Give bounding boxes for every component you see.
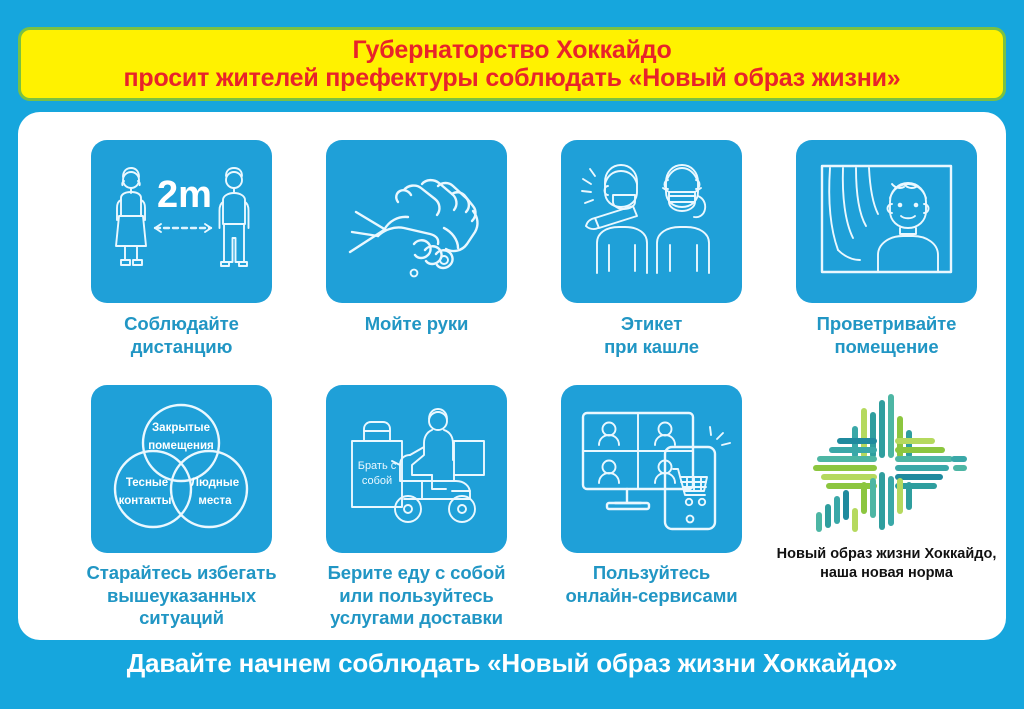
avoid-tile-box: Закрытые помещения Тесные контакты Людны…	[91, 385, 272, 553]
distance-caption-line2: дистанцию	[124, 336, 239, 359]
venn-label-right2: места	[198, 495, 232, 507]
avoid-caption: Старайтесь избегать вышеуказанных ситуац…	[87, 562, 277, 630]
takeout-caption-line3: услугами доставки	[328, 607, 506, 630]
ventilate-caption: Проветривайте помещение	[817, 313, 957, 358]
bag-label-line1: Брать с	[358, 460, 397, 472]
cough-caption-line1: Этикет	[604, 313, 699, 336]
header-title-line2: просит жителей префектуры соблюдать «Нов…	[124, 64, 901, 92]
online-caption-line1: Пользуйтесь	[565, 562, 737, 585]
ventilate-caption-line1: Проветривайте	[817, 313, 957, 336]
tile-row-2: Закрытые помещения Тесные контакты Людны…	[64, 385, 1004, 630]
tile-takeout: Брать с собой	[299, 385, 534, 630]
tile-ventilate: Проветривайте помещение	[769, 140, 1004, 358]
avoid-caption-line1: Старайтесь избегать	[87, 562, 277, 585]
ventilate-caption-line2: помещение	[817, 336, 957, 359]
pinwheel-logo-icon	[796, 389, 977, 541]
tile-avoid-three-cs: Закрытые помещения Тесные контакты Людны…	[64, 385, 299, 630]
distance-tile-box: 2m	[91, 140, 272, 303]
ventilate-tile-box	[796, 140, 977, 303]
avoid-caption-line3: ситуаций	[87, 607, 277, 630]
tile-cough: Этикет при кашле	[534, 140, 769, 358]
footer-banner: Давайте начнем соблюдать «Новый образ жи…	[0, 648, 1024, 679]
takeout-caption-line1: Берите еду с собой	[328, 562, 506, 585]
online-caption-line2: онлайн-сервисами	[565, 585, 737, 608]
cough-etiquette-icon	[561, 140, 742, 303]
venn-label-top: Закрытые	[152, 422, 210, 434]
bag-label-line2: собой	[362, 475, 392, 487]
distance-caption-line1: Соблюдайте	[124, 313, 239, 336]
venn-label-left: Тесные	[126, 477, 168, 489]
wash-hands-tile-box	[326, 140, 507, 303]
social-distance-icon: 2m	[91, 140, 272, 303]
cough-caption: Этикет при кашле	[604, 313, 699, 358]
distance-caption: Соблюдайте дистанцию	[124, 313, 239, 358]
venn-label-right: Людные	[191, 477, 239, 489]
tile-distance: 2m Соблюдайте дистанцию	[64, 140, 299, 358]
poster: Губернаторство Хоккайдо просит жителей п…	[0, 0, 1024, 709]
venn-label-top2: помещения	[148, 440, 214, 452]
takeout-tile-box: Брать с собой	[326, 385, 507, 553]
online-services-icon	[561, 385, 742, 553]
venn-label-left2: контакты	[119, 495, 172, 507]
content-card: 2m Соблюдайте дистанцию	[18, 112, 1006, 640]
takeout-caption-line2: или пользуйтесь	[328, 585, 506, 608]
online-caption: Пользуйтесь онлайн-сервисами	[565, 562, 737, 607]
three-cs-venn-icon: Закрытые помещения Тесные контакты Людны…	[91, 385, 272, 553]
tile-row-1: 2m Соблюдайте дистанцию	[64, 140, 1004, 358]
tile-wash-hands: Мойте руки	[299, 140, 534, 358]
logo-caption-line1: Новый образ жизни Хоккайдо,	[777, 545, 997, 564]
hokkaido-new-lifestyle-logo: Новый образ жизни Хоккайдо, наша новая н…	[769, 385, 1004, 630]
wash-hands-caption: Мойте руки	[365, 313, 469, 336]
washing-hands-icon	[326, 140, 507, 303]
logo-caption: Новый образ жизни Хоккайдо, наша новая н…	[777, 545, 997, 583]
ventilation-window-icon	[796, 140, 977, 303]
distance-value: 2m	[157, 174, 212, 216]
takeout-delivery-icon: Брать с собой	[326, 385, 507, 553]
avoid-caption-line2: вышеуказанных	[87, 585, 277, 608]
header-banner: Губернаторство Хоккайдо просит жителей п…	[18, 27, 1006, 101]
online-tile-box	[561, 385, 742, 553]
takeout-caption: Берите еду с собой или пользуйтесь услуг…	[328, 562, 506, 630]
logo-caption-line2: наша новая норма	[777, 564, 997, 583]
tile-online: Пользуйтесь онлайн-сервисами	[534, 385, 769, 630]
cough-caption-line2: при кашле	[604, 336, 699, 359]
header-title-line1: Губернаторство Хоккайдо	[352, 36, 671, 64]
cough-tile-box	[561, 140, 742, 303]
wash-hands-caption-line1: Мойте руки	[365, 313, 469, 336]
